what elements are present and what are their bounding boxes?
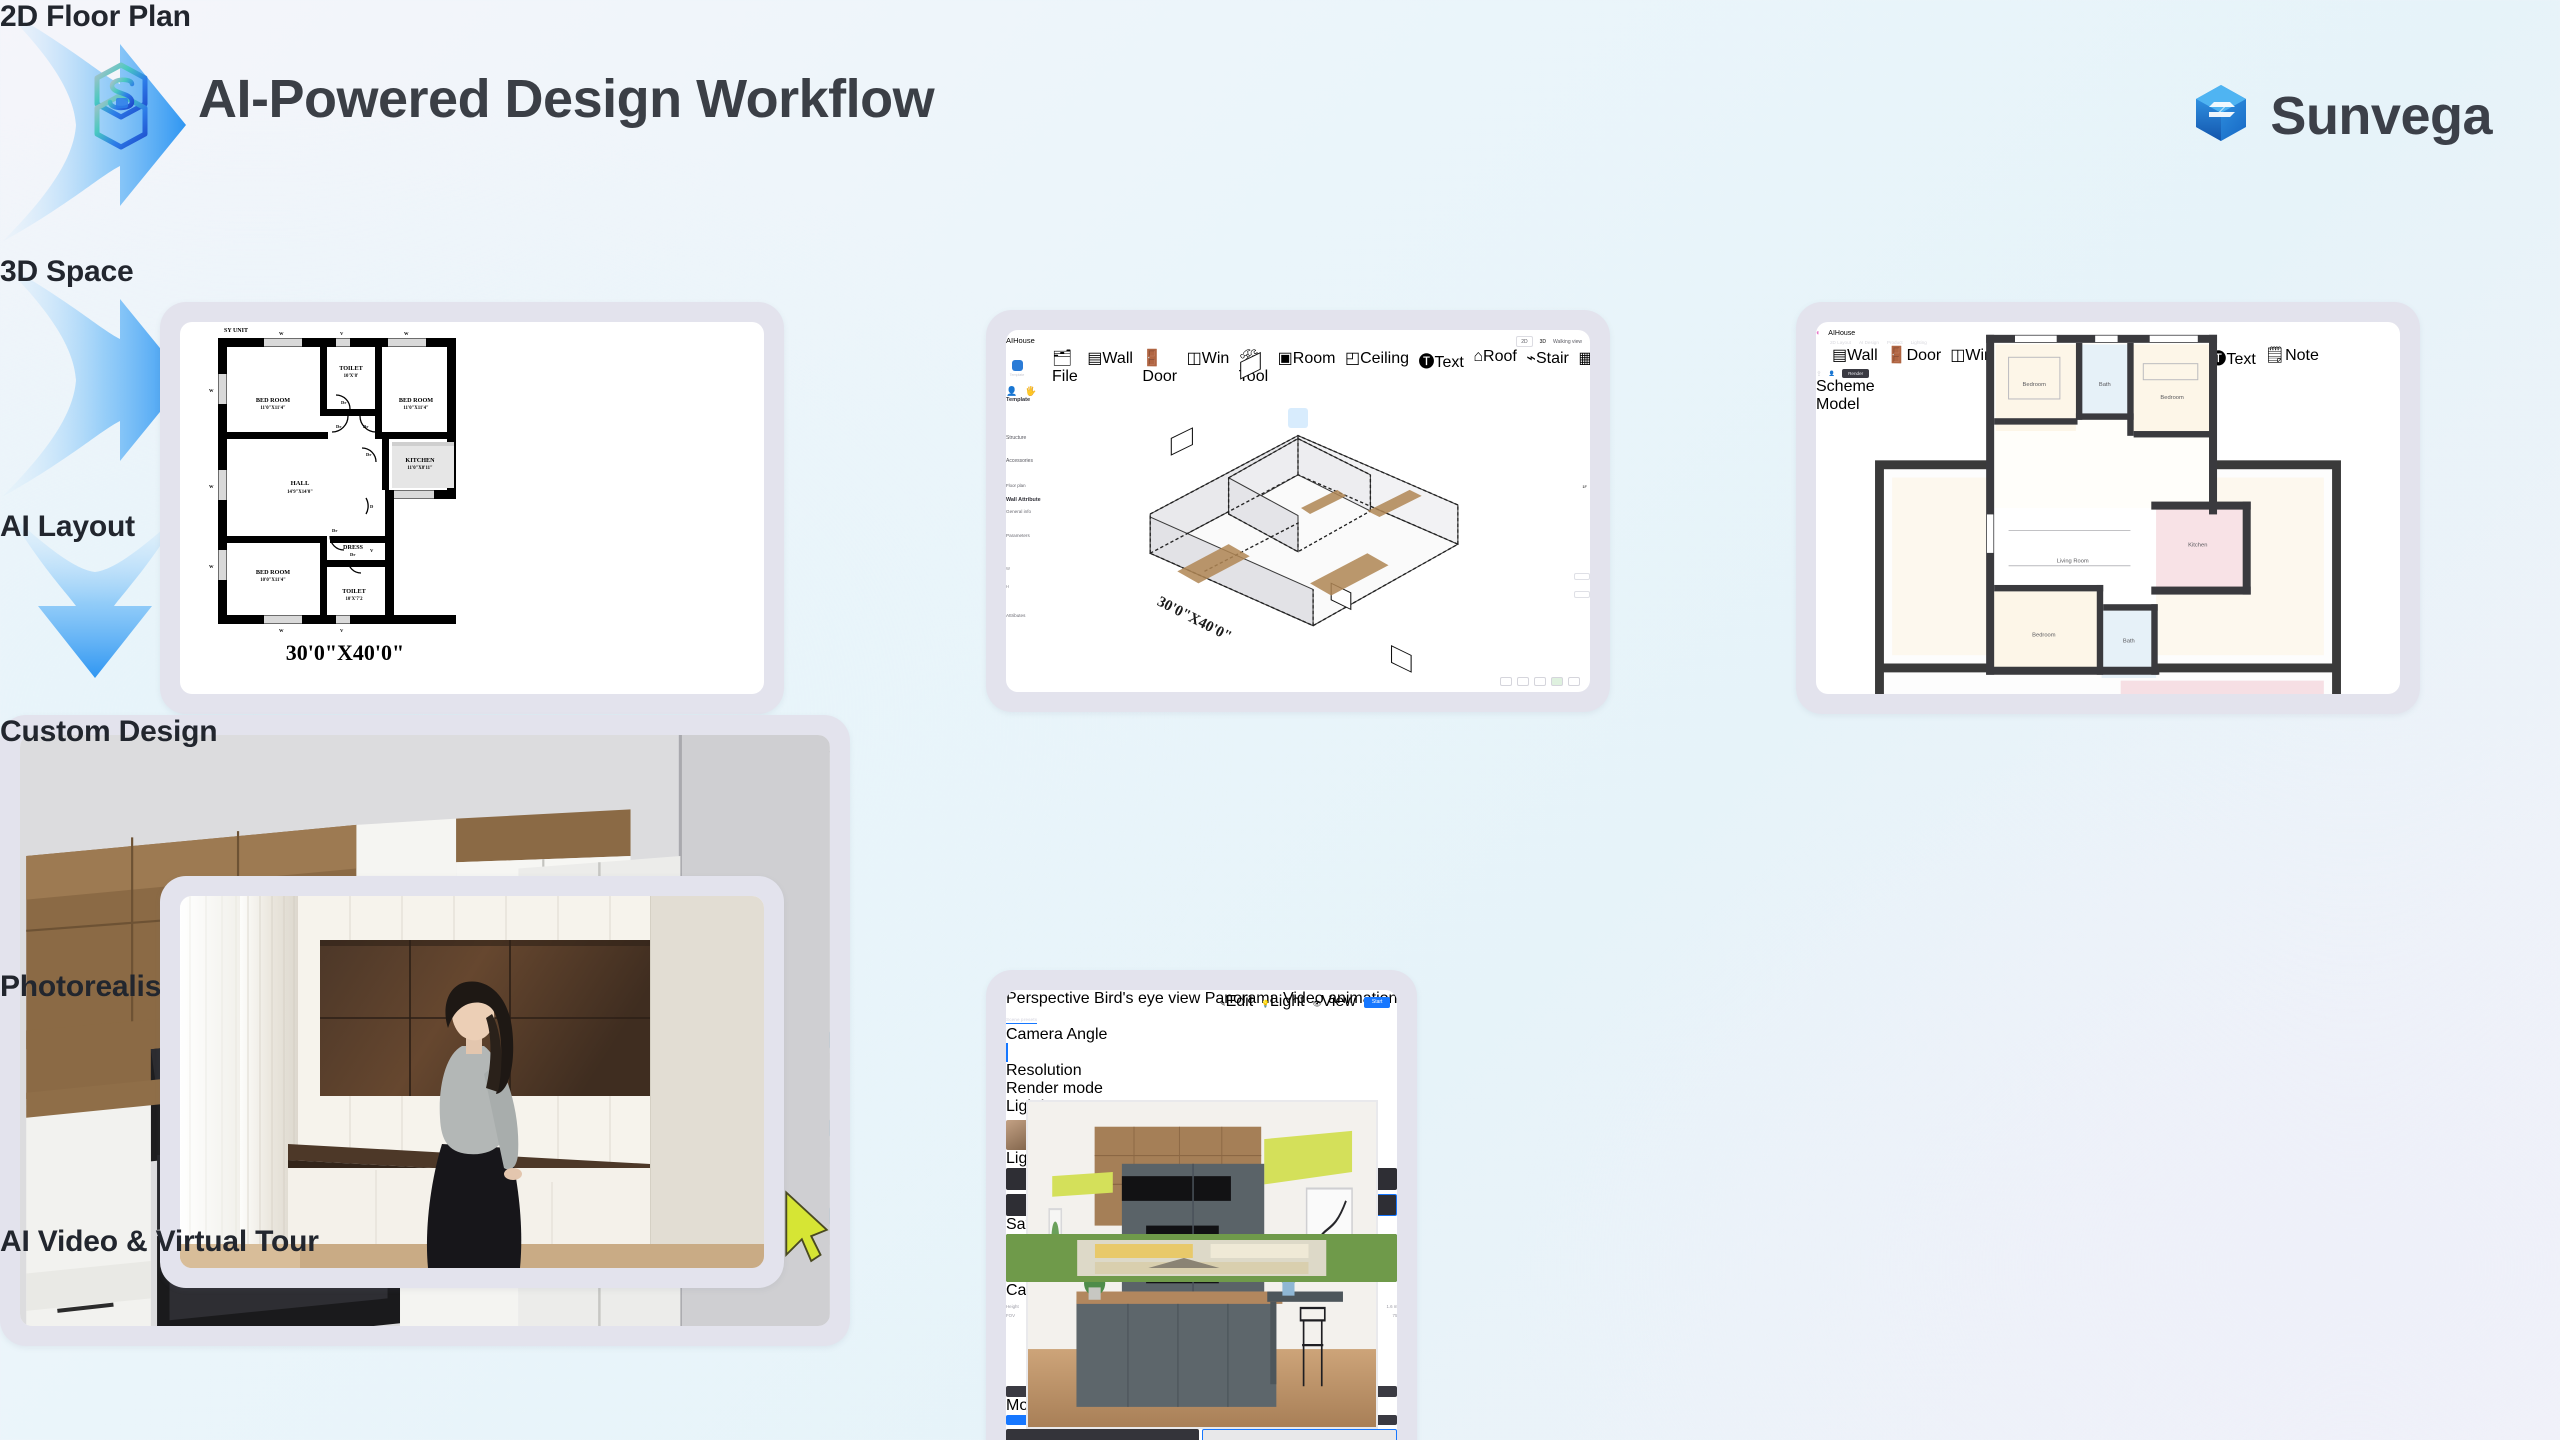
svg-text:V: V: [340, 628, 344, 633]
svg-text:HALL: HALL: [291, 480, 310, 487]
svg-text:Dr: Dr: [341, 400, 346, 405]
render-field-value: 75: [1393, 1313, 1398, 1318]
svg-text:W: W: [209, 564, 214, 569]
interior-render-photo: [180, 896, 764, 1268]
svg-text:11'0"X8'11": 11'0"X8'11": [407, 466, 433, 471]
3d-view-ctrl[interactable]: [1517, 677, 1529, 686]
render-field-label: FOV: [1006, 1313, 1015, 1318]
floor-plan-drawing: Dr Dr Dr Dr D Dr Dr WVW WWW WVV: [180, 322, 764, 694]
svg-text:Dr: Dr: [350, 552, 355, 557]
svg-text:Living Room: Living Room: [2057, 559, 2089, 565]
render-section-camera: Camera Angle: [1006, 1026, 1397, 1044]
svg-text:Dr: Dr: [332, 528, 337, 533]
svg-text:30'0"X40'0": 30'0"X40'0": [286, 640, 405, 665]
svg-text:Dr: Dr: [363, 424, 368, 429]
page-title: AI-Powered Design Workflow: [198, 68, 934, 130]
ai-video-screenshot: [180, 896, 764, 1268]
render-action-view[interactable]: 👁View: [1313, 993, 1356, 1011]
svg-text:TOILET: TOILET: [342, 588, 366, 595]
caption-ai-layout: AI Layout: [0, 510, 135, 544]
custom-canvas[interactable]: ⊕ + ✥ ↖ ⊟ ↻ ◑ ⊨ ✎ ▦ ⟳ ≡ ⇱ ⊠: [20, 1306, 830, 1326]
svg-text:DRESS: DRESS: [343, 544, 364, 551]
svg-text:BED ROOM: BED ROOM: [256, 397, 290, 404]
svg-text:W: W: [279, 331, 284, 336]
svg-text:Dr: Dr: [336, 424, 341, 429]
render-camera-thumbs[interactable]: [1006, 1044, 1397, 1062]
render-action-edit[interactable]: ✎Edit: [1220, 993, 1253, 1011]
floor-plan-screenshot: Dr Dr Dr Dr D Dr Dr WVW WWW WVV: [180, 322, 764, 694]
card-3d-space[interactable]: AIHouse 🗂File ▤Wall 🚪Door ◫Win 🛠Tool ▣Ro…: [986, 310, 1610, 712]
render-action-light[interactable]: 💡Light: [1261, 993, 1304, 1011]
render-tab-perspective[interactable]: Perspective: [1006, 990, 1090, 1007]
3d-space-screenshot: AIHouse 🗂File ▤Wall 🚪Door ◫Win 🛠Tool ▣Ro…: [1006, 330, 1590, 692]
render-canvas[interactable]: Save Image Render: [1006, 1216, 1397, 1234]
ai-layout-screenshot: ◐ AIHouse 2D Layout AI Design Product Li…: [1816, 322, 2400, 694]
render-thumb-selected[interactable]: [1006, 1043, 1008, 1062]
caption-2d-floor-plan: 2D Floor Plan: [0, 0, 191, 34]
svg-text:V: V: [370, 548, 374, 553]
3d-dimension-label: 30'0"X40'0": [1154, 594, 1234, 645]
svg-text:W: W: [404, 331, 409, 336]
svg-text:11'0"X11'4": 11'0"X11'4": [260, 406, 286, 411]
svg-text:Bath: Bath: [2099, 382, 2111, 388]
render-tab-birdseye[interactable]: Bird's eye view: [1094, 990, 1200, 1007]
company-name: Sunvega: [2270, 85, 2492, 147]
svg-text:BED ROOM: BED ROOM: [399, 397, 433, 404]
svg-text:W: W: [209, 484, 214, 489]
render-section-mode: Render mode: [1006, 1080, 1397, 1098]
card-ai-layout[interactable]: ◐ AIHouse 2D Layout AI Design Product Li…: [1796, 302, 2420, 714]
render-field-value: 1.6 m: [1386, 1304, 1397, 1309]
svg-text:BED ROOM: BED ROOM: [256, 569, 290, 576]
3d-view-ctrl[interactable]: [1534, 677, 1546, 686]
caption-ai-video-virtual-tour: AI Video & Virtual Tour: [0, 1225, 319, 1259]
svg-text:10'0"X11'4": 10'0"X11'4": [260, 578, 286, 583]
company-logo: Sunvega: [2190, 82, 2492, 149]
3d-view-ctrl[interactable]: [1500, 677, 1512, 686]
3d-view-ctrl[interactable]: [1551, 677, 1563, 686]
render-topbar: Perspective Bird's eye view Panorama Vid…: [1006, 990, 1397, 1008]
sunvega-cube-logo-icon: [2190, 82, 2252, 149]
sunvega-hex-s-icon: [82, 58, 160, 154]
svg-text:V: V: [340, 331, 344, 336]
svg-text:TOILET: TOILET: [339, 365, 363, 372]
svg-text:Dr: Dr: [366, 452, 371, 457]
svg-text:Bedroom: Bedroom: [2160, 395, 2184, 401]
render-minimap[interactable]: [1006, 1234, 1397, 1282]
page-header: AI-Powered Design Workflow: [0, 0, 2560, 200]
render-model-thumb-selected[interactable]: [1202, 1429, 1397, 1440]
caption-custom-design: Custom Design: [0, 715, 217, 749]
svg-text:Kitchen: Kitchen: [2188, 542, 2207, 548]
svg-text:10'X'7'2: 10'X'7'2: [345, 597, 363, 602]
svg-text:Bedroom: Bedroom: [2032, 632, 2056, 638]
render-left-title: Scene presets: [1006, 1017, 1037, 1024]
render-start-button[interactable]: Start: [1364, 997, 1391, 1008]
svg-text:W: W: [279, 628, 284, 633]
svg-text:SY UNIT: SY UNIT: [224, 328, 248, 334]
card-2d-floor-plan[interactable]: Dr Dr Dr Dr D Dr Dr WVW WWW WVV: [160, 302, 784, 714]
svg-text:14'9"X14'0": 14'9"X14'0": [287, 490, 313, 495]
svg-text:10'X'8': 10'X'8': [344, 374, 359, 379]
render-model-thumb[interactable]: [1006, 1429, 1199, 1440]
svg-text:11'0"X11'4": 11'0"X11'4": [403, 406, 429, 411]
svg-text:KITCHEN: KITCHEN: [405, 457, 435, 464]
svg-text:Bedroom: Bedroom: [2023, 382, 2047, 388]
svg-text:Bath: Bath: [2123, 639, 2135, 645]
3d-view-ctrl[interactable]: [1568, 677, 1580, 686]
render-field-label: Height: [1006, 1304, 1019, 1309]
rendering-screenshot: Perspective Bird's eye view Panorama Vid…: [1006, 990, 1397, 1440]
svg-text:W: W: [209, 388, 214, 393]
svg-text:D: D: [370, 504, 374, 509]
caption-3d-space: 3D Space: [0, 255, 133, 289]
render-section-resolution: Resolution: [1006, 1062, 1397, 1080]
card-photorealistic-rendering[interactable]: Perspective Bird's eye view Panorama Vid…: [986, 970, 1417, 1440]
